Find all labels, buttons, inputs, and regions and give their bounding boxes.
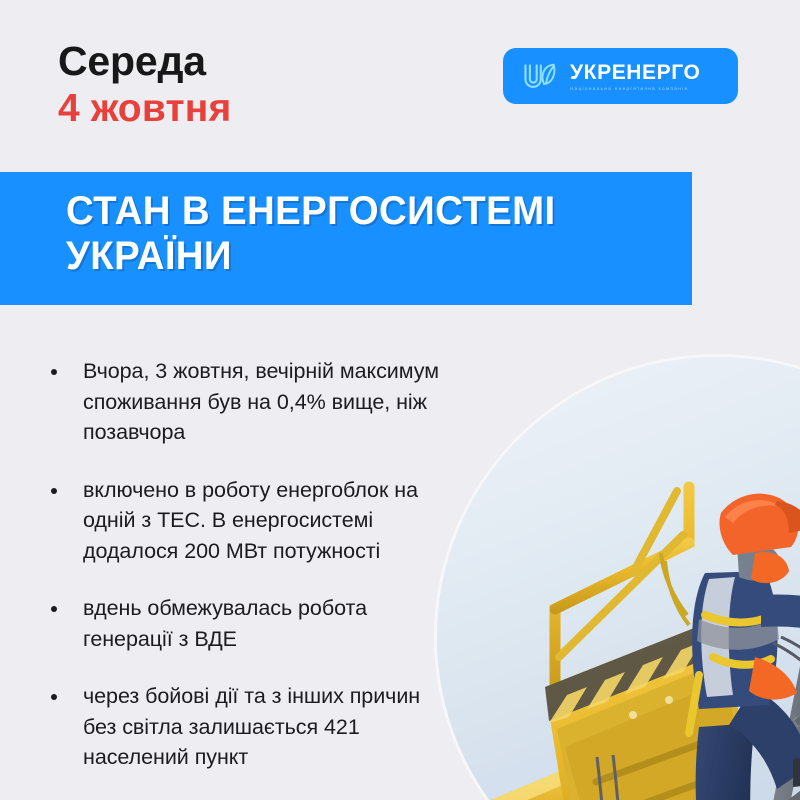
- title-line-1: СТАН В ЕНЕРГОСИСТЕМІ: [66, 189, 667, 234]
- list-item: вдень обмежувалась робота генерації з ВД…: [46, 593, 456, 654]
- lineman-photo: [437, 357, 800, 800]
- bullet-text: Вчора, 3 жовтня, вечірній максимум спожи…: [83, 356, 456, 448]
- bullet-dot-icon: [51, 606, 57, 612]
- date-label: 4 жовтня: [58, 87, 478, 132]
- photo-circle-frame: [437, 357, 800, 800]
- bullet-text: через бойові дії та з інших причин без с…: [83, 681, 456, 773]
- list-item: включено в роботу енергоблок на одній з …: [46, 475, 456, 567]
- list-item: через бойові дії та з інших причин без с…: [46, 681, 456, 773]
- bullet-list: Вчора, 3 жовтня, вечірній максимум спожи…: [46, 356, 456, 773]
- poster-canvas: Середа 4 жовтня УКРЕНЕРГО Національна ен…: [0, 0, 800, 800]
- logo-tagline: Національна енергетична компанія: [570, 87, 700, 92]
- bullet-dot-icon: [51, 694, 57, 700]
- bullet-dot-icon: [51, 488, 57, 494]
- ukrenergo-leaf-logo-icon: [519, 59, 561, 93]
- date-block: Середа 4 жовтня: [58, 40, 478, 132]
- ukrenergo-logo-badge: УКРЕНЕРГО Національна енергетична компан…: [503, 48, 738, 104]
- bullet-dot-icon: [51, 369, 57, 375]
- bullet-text: вдень обмежувалась робота генерації з ВД…: [83, 593, 456, 654]
- title-line-2: УКРАЇНИ: [66, 234, 667, 279]
- logo-wordmark: УКРЕНЕРГО: [570, 62, 700, 83]
- logo-text-group: УКРЕНЕРГО Національна енергетична компан…: [570, 61, 700, 92]
- title-banner: СТАН В ЕНЕРГОСИСТЕМІ УКРАЇНИ: [0, 172, 692, 305]
- bullet-text: включено в роботу енергоблок на одній з …: [83, 475, 456, 567]
- weekday-label: Середа: [58, 40, 478, 83]
- list-item: Вчора, 3 жовтня, вечірній максимум спожи…: [46, 356, 456, 448]
